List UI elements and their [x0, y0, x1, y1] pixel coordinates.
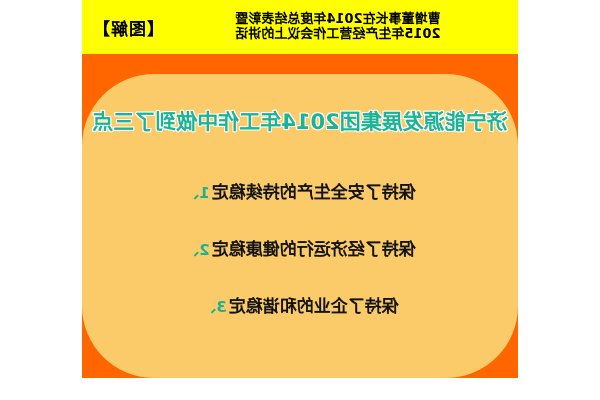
- list-item-label: 保持了安全生产的持续稳定: [212, 178, 416, 203]
- list-item-label: 保持了经济运行的健康稳定: [212, 235, 416, 260]
- header-title-line-1: 曹增董事长在2014年度总结表彰暨: [235, 12, 440, 27]
- slide-canvas: 【图解】 曹增董事长在2014年度总结表彰暨 2015年生产经营工作会议上的讲话…: [0, 0, 600, 400]
- list-item-label: 保持了企业的和谐稳定: [229, 292, 399, 317]
- header-tag-label: 【图解】: [88, 15, 164, 40]
- header-content: 【图解】 曹增董事长在2014年度总结表彰暨 2015年生产经营工作会议上的讲话: [82, 0, 518, 54]
- list-item-number: 1、: [184, 182, 211, 203]
- list-item: 1、 保持了安全生产的持续稳定: [82, 178, 518, 203]
- mirrored-slide: 【图解】 曹增董事长在2014年度总结表彰暨 2015年生产经营工作会议上的讲话…: [82, 0, 518, 378]
- list-item-number: 3、: [201, 296, 228, 317]
- list-item: 3、 保持了企业的和谐稳定: [82, 292, 518, 317]
- content-card: 济宁能源发展集团2014年工作中做到了三点 1、 保持了安全生产的持续稳定 2、…: [82, 74, 518, 378]
- card-title: 济宁能源发展集团2014年工作中做到了三点: [82, 106, 518, 136]
- header-title-block: 曹增董事长在2014年度总结表彰暨 2015年生产经营工作会议上的讲话: [164, 12, 512, 43]
- list-item-number: 2、: [184, 239, 211, 260]
- header-band: 【图解】 曹增董事长在2014年度总结表彰暨 2015年生产经营工作会议上的讲话: [82, 0, 518, 54]
- body-area: 济宁能源发展集团2014年工作中做到了三点 1、 保持了安全生产的持续稳定 2、…: [82, 54, 518, 378]
- list-item: 2、 保持了经济运行的健康稳定: [82, 235, 518, 260]
- header-title-line-2: 2015年生产经营工作会议上的讲话: [235, 27, 440, 42]
- bullet-list: 1、 保持了安全生产的持续稳定 2、 保持了经济运行的健康稳定 3、 保持了企业…: [82, 178, 518, 317]
